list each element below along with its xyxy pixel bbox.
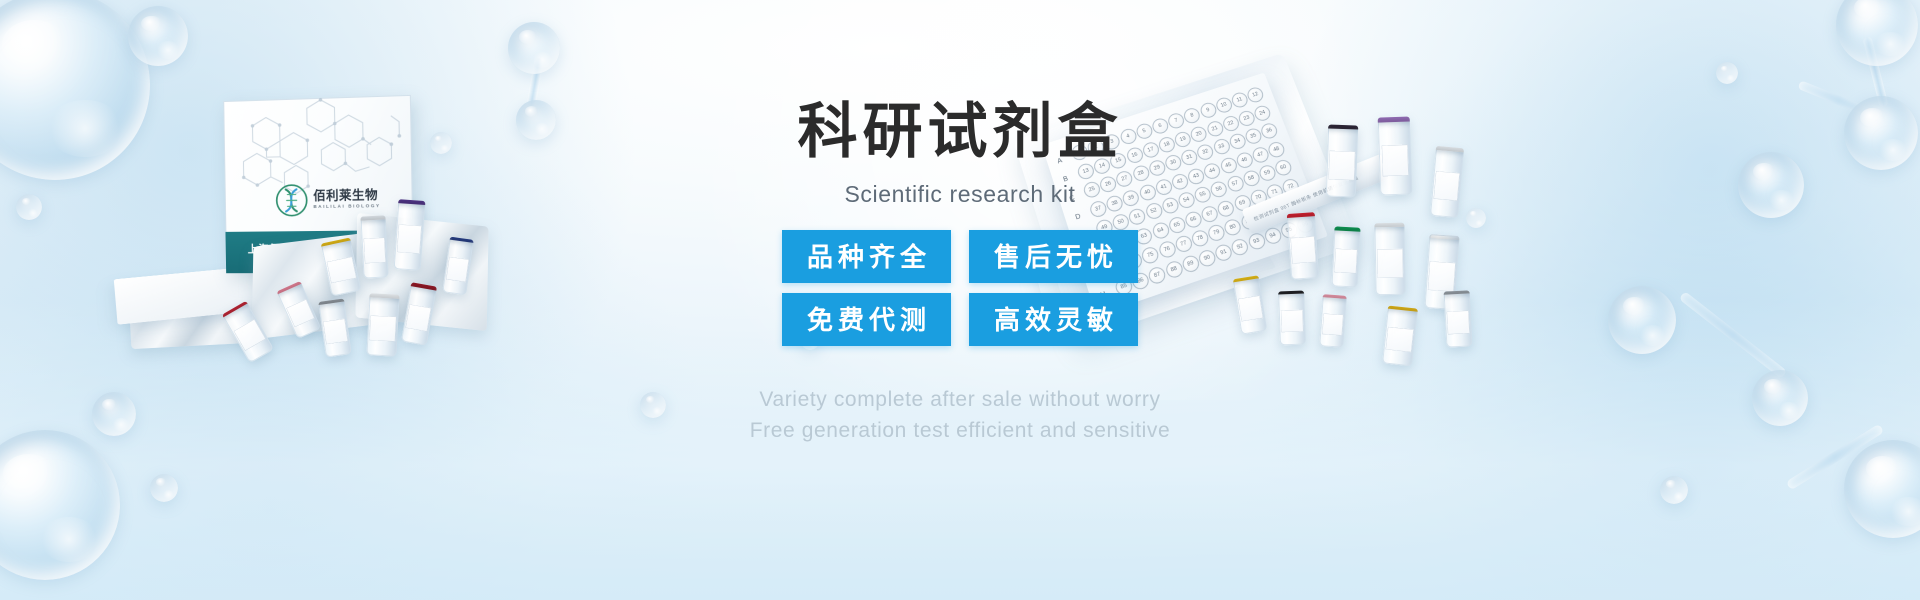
feature-tag[interactable]: 免费代测 [782, 293, 951, 346]
feature-tag[interactable]: 售后无忧 [969, 230, 1138, 283]
feature-tag[interactable]: 品种齐全 [782, 230, 951, 283]
banner-english-tagline: Variety complete after sale without worr… [750, 384, 1171, 447]
water-drop-icon [1660, 476, 1688, 504]
feature-tag-list: 品种齐全售后无忧免费代测高效灵敏 [782, 230, 1138, 346]
water-drop-icon [128, 6, 188, 66]
water-drop-icon [1716, 62, 1738, 84]
feature-tag[interactable]: 高效灵敏 [969, 293, 1138, 346]
water-drop-icon [0, 430, 120, 580]
banner-headline: 科研试剂盒 [798, 100, 1123, 165]
water-drop-icon [1836, 0, 1918, 66]
water-drop-icon [508, 22, 560, 74]
molecule-bond [1862, 36, 1888, 108]
water-drop-icon [150, 474, 178, 502]
water-drop-icon [1844, 440, 1920, 538]
banner-subheadline: Scientific research kit [844, 181, 1075, 208]
english-tagline-line: Variety complete after sale without worr… [750, 384, 1171, 416]
english-tagline-line: Free generation test efficient and sensi… [750, 415, 1171, 447]
banner-copy: 科研试剂盒 Scientific research kit 品种齐全售后无忧免费… [0, 100, 1920, 447]
promo-banner: 佰利莱生物 BAILILAI BIOLOGY 上海佰利莱生物科技有限公司 SHA… [0, 0, 1920, 600]
